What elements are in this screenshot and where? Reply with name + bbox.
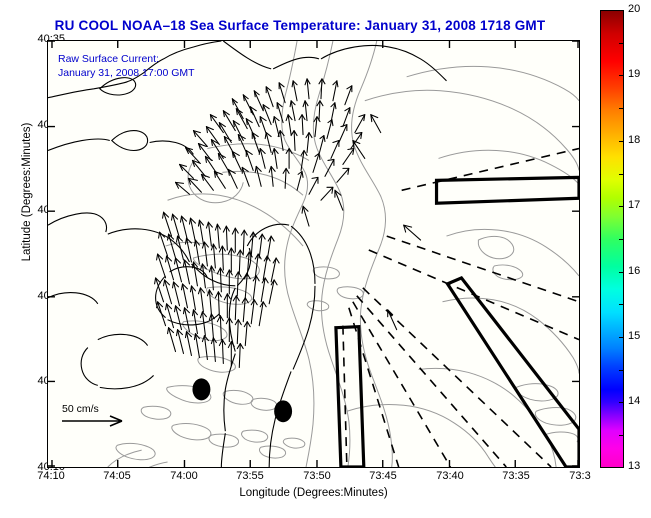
- colorbar-tick-label: 19: [628, 75, 640, 87]
- scale-bar-arrow: [60, 413, 136, 429]
- colorbar-tick: [619, 141, 624, 142]
- colorbar-tick: [619, 239, 624, 240]
- colorbar-tick: [619, 435, 624, 436]
- coastline: [48, 41, 446, 467]
- x-tick-label: 73:50: [303, 470, 331, 482]
- x-axis-label: Longitude (Degrees:Minutes): [47, 487, 580, 499]
- colorbar-tick: [619, 304, 624, 305]
- x-tick-label: 73:55: [236, 470, 264, 482]
- station-markers: [192, 378, 292, 422]
- colorbar-tick: [619, 174, 624, 175]
- colorbar-tick-label: 20: [628, 10, 640, 22]
- annotation-line-2: January 31, 2008 17:00 GMT: [58, 67, 195, 79]
- colorbar-tick: [619, 402, 624, 403]
- transect-lines: [343, 148, 579, 467]
- colorbar-tick: [619, 467, 624, 468]
- colorbar-tick-label: 13: [628, 467, 640, 479]
- bathymetry-contours: [108, 41, 579, 467]
- colorbar-tick-label: 17: [628, 206, 640, 218]
- x-tick-label: 73:45: [369, 470, 397, 482]
- colorbar-tick: [619, 370, 624, 371]
- colorbar-tick: [619, 337, 624, 338]
- x-tick-label: 74:00: [170, 470, 198, 482]
- sst-map-figure: RU COOL NOAA–18 Sea Surface Temperature:…: [0, 0, 651, 518]
- map-canvas: [48, 41, 579, 467]
- x-tick-label: 74:10: [37, 470, 65, 482]
- colorbar-tick: [619, 108, 624, 109]
- colorbar-tick: [619, 75, 624, 76]
- colorbar-tick-label: 16: [628, 272, 640, 284]
- x-tick-label: 73:35: [502, 470, 530, 482]
- annotation-line-1: Raw Surface Current:: [58, 53, 159, 65]
- colorbar-tick: [619, 10, 624, 11]
- colorbar-tick-label: 14: [628, 402, 640, 414]
- colorbar-tick: [619, 43, 624, 44]
- colorbar-tick-label: 18: [628, 141, 640, 153]
- x-tick-label: 73:40: [436, 470, 464, 482]
- x-tick-label: 73:3: [569, 470, 590, 482]
- colorbar-tick-label: 15: [628, 337, 640, 349]
- colorbar-tick: [619, 272, 624, 273]
- survey-boxes: [336, 177, 579, 467]
- y-axis-label: Latitude (Degrees:Minutes): [21, 112, 33, 272]
- colorbar-tick: [619, 206, 624, 207]
- map-plot-area[interactable]: Raw Surface Current: January 31, 2008 17…: [47, 40, 580, 468]
- x-tick-label: 74:05: [103, 470, 131, 482]
- figure-title: RU COOL NOAA–18 Sea Surface Temperature:…: [0, 18, 600, 33]
